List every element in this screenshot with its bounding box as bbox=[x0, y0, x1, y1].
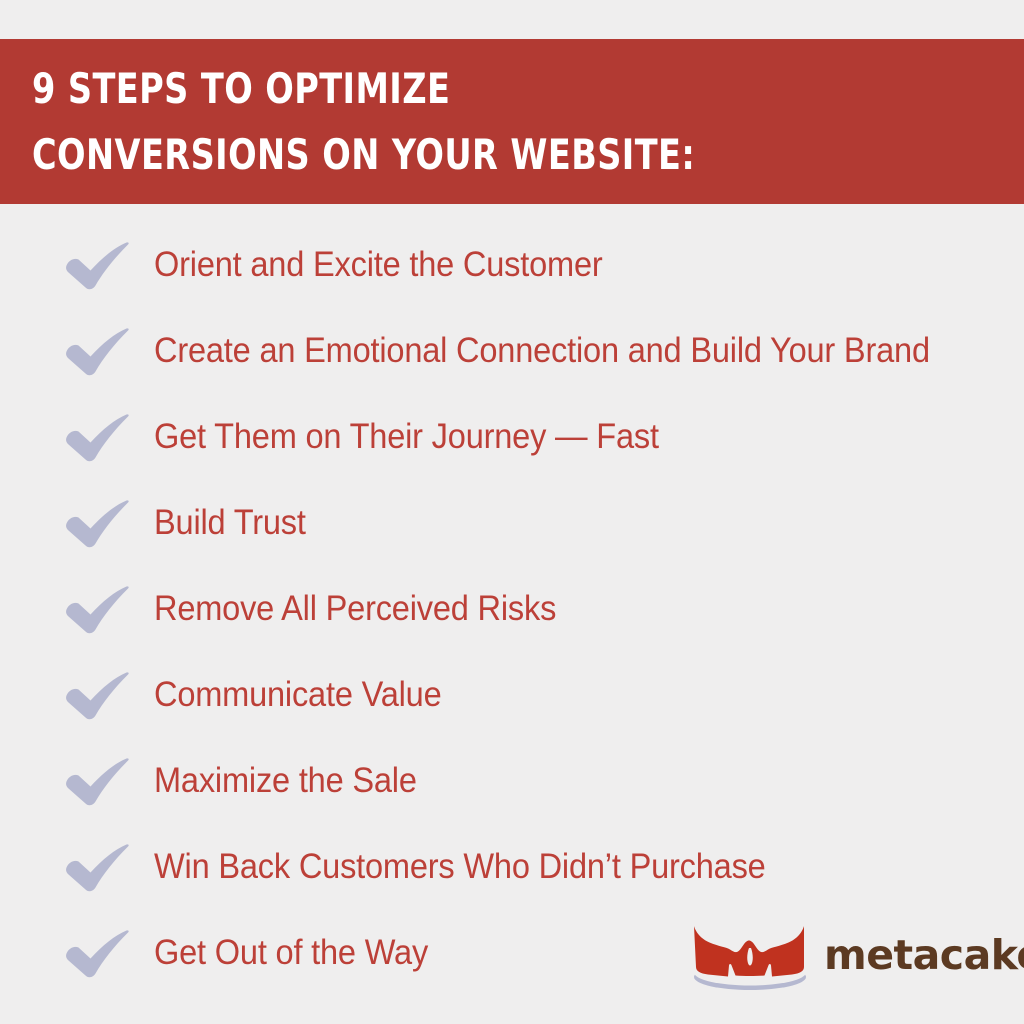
checkmark-icon bbox=[62, 235, 132, 295]
header-title-line-1: 9 STEPS TO OPTIMIZE bbox=[32, 68, 800, 110]
list-item-label: Create an Emotional Connection and Build… bbox=[154, 332, 930, 371]
list-item-label: Maximize the Sale bbox=[154, 762, 417, 801]
list-item: Remove All Perceived Risks bbox=[0, 566, 1024, 652]
checkmark-icon bbox=[62, 493, 132, 553]
infographic-page: 9 STEPS TO OPTIMIZE CONVERSIONS ON YOUR … bbox=[0, 0, 1024, 1024]
checklist: Orient and Excite the Customer Create an… bbox=[0, 222, 1024, 996]
list-item: Maximize the Sale bbox=[0, 738, 1024, 824]
list-item-label: Orient and Excite the Customer bbox=[154, 246, 603, 285]
list-item: Communicate Value bbox=[0, 652, 1024, 738]
checkmark-icon bbox=[62, 407, 132, 467]
header-banner: 9 STEPS TO OPTIMIZE CONVERSIONS ON YOUR … bbox=[0, 39, 1024, 204]
list-item: Win Back Customers Who Didn’t Purchase bbox=[0, 824, 1024, 910]
checkmark-icon bbox=[62, 321, 132, 381]
list-item: Orient and Excite the Customer bbox=[0, 222, 1024, 308]
metacake-cake-icon bbox=[688, 918, 812, 992]
list-item: Create an Emotional Connection and Build… bbox=[0, 308, 1024, 394]
list-item-label: Communicate Value bbox=[154, 676, 442, 715]
list-item-label: Get Them on Their Journey — Fast bbox=[154, 418, 659, 457]
header-title-line-2: CONVERSIONS ON YOUR WEBSITE: bbox=[32, 134, 800, 176]
checkmark-icon bbox=[62, 751, 132, 811]
list-item: Get Them on Their Journey — Fast bbox=[0, 394, 1024, 480]
list-item: Build Trust bbox=[0, 480, 1024, 566]
list-item-label: Win Back Customers Who Didn’t Purchase bbox=[154, 848, 766, 887]
metacake-logo: metacake bbox=[688, 918, 988, 992]
list-item-label: Remove All Perceived Risks bbox=[154, 590, 556, 629]
list-item-label: Get Out of the Way bbox=[154, 934, 428, 973]
checkmark-icon bbox=[62, 579, 132, 639]
checkmark-icon bbox=[62, 837, 132, 897]
checkmark-icon bbox=[62, 923, 132, 983]
metacake-wordmark: metacake bbox=[824, 935, 1024, 976]
list-item-label: Build Trust bbox=[154, 504, 306, 543]
checkmark-icon bbox=[62, 665, 132, 725]
